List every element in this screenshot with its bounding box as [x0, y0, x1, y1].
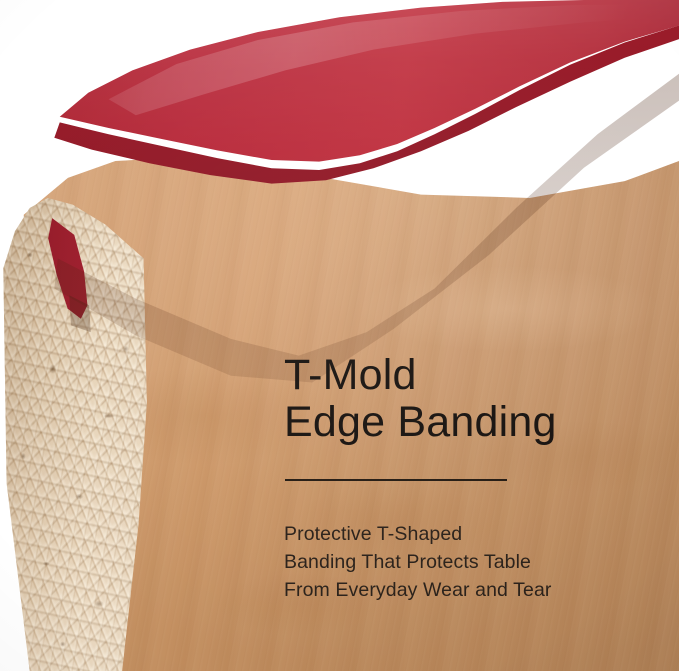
- product-title-line-1: T-Mold: [284, 351, 417, 399]
- subtitle-line-3: From Everyday Wear and Tear: [284, 576, 644, 604]
- title-divider: [285, 479, 507, 481]
- subtitle-line-2: Banding That Protects Table: [284, 548, 644, 576]
- product-subtitle: Protective T-Shaped Banding That Protect…: [284, 520, 644, 604]
- product-photo-scene: T-Mold Edge Banding Protective T-Shaped …: [0, 0, 679, 671]
- product-title: T-Mold Edge Banding: [284, 352, 644, 446]
- subtitle-line-1: Protective T-Shaped: [284, 520, 644, 548]
- text-overlay: T-Mold Edge Banding Protective T-Shaped …: [284, 352, 644, 604]
- product-title-line-2: Edge Banding: [284, 399, 644, 446]
